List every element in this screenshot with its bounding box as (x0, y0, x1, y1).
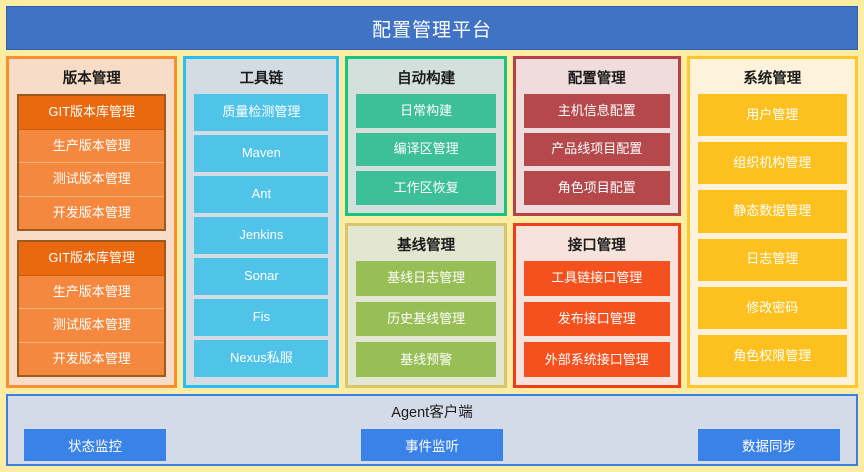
system-item-3[interactable]: 静态数据管理 (698, 190, 847, 232)
panel-title-auto-build: 自动构建 (356, 64, 496, 94)
panel-tool-chain[interactable]: 工具链 质量检测管理 Maven Ant Jenkins Sonar Fis N… (183, 56, 339, 388)
panel-body-config-management: 主机信息配置 产品线项目配置 角色项目配置 (524, 94, 670, 205)
agent-button-status-monitor[interactable]: 状态监控 (24, 429, 166, 461)
panel-title-interface-management: 接口管理 (524, 231, 670, 261)
panel-body-version-management: GIT版本库管理 生产版本管理 测试版本管理 开发版本管理 GIT版本库管理 生… (17, 94, 166, 377)
config-item-1[interactable]: 主机信息配置 (524, 94, 670, 128)
panel-body-tool-chain: 质量检测管理 Maven Ant Jenkins Sonar Fis Nexus… (194, 94, 328, 377)
tool-chain-item-2[interactable]: Maven (194, 135, 328, 172)
interface-item-3[interactable]: 外部系统接口管理 (524, 342, 670, 377)
version-group-2-head[interactable]: GIT版本库管理 (19, 242, 164, 276)
version-group-1-item-3[interactable]: 开发版本管理 (19, 197, 164, 230)
baseline-item-1[interactable]: 基线日志管理 (356, 261, 496, 296)
system-item-2[interactable]: 组织机构管理 (698, 142, 847, 184)
panel-body-interface-management: 工具链接口管理 发布接口管理 外部系统接口管理 (524, 261, 670, 377)
agent-button-data-sync[interactable]: 数据同步 (698, 429, 840, 461)
version-group-1-item-2[interactable]: 测试版本管理 (19, 163, 164, 197)
system-item-5[interactable]: 修改密码 (698, 287, 847, 329)
baseline-item-3[interactable]: 基线预警 (356, 342, 496, 377)
column-tool-chain: 工具链 质量检测管理 Maven Ant Jenkins Sonar Fis N… (183, 56, 339, 388)
baseline-item-2[interactable]: 历史基线管理 (356, 302, 496, 337)
version-group-1-item-1[interactable]: 生产版本管理 (19, 130, 164, 164)
platform-title-bar: 配置管理平台 (6, 6, 858, 50)
panel-body-system-management: 用户管理 组织机构管理 静态数据管理 日志管理 修改密码 角色权限管理 (698, 94, 847, 377)
tool-chain-item-1[interactable]: 质量检测管理 (194, 94, 328, 131)
tool-chain-item-5[interactable]: Sonar (194, 258, 328, 295)
version-group-1[interactable]: GIT版本库管理 生产版本管理 测试版本管理 开发版本管理 (17, 94, 166, 231)
tool-chain-item-4[interactable]: Jenkins (194, 217, 328, 254)
config-item-3[interactable]: 角色项目配置 (524, 171, 670, 205)
panel-title-config-management: 配置管理 (524, 64, 670, 94)
column-system-management: 系统管理 用户管理 组织机构管理 静态数据管理 日志管理 修改密码 角色权限管理 (687, 56, 858, 388)
system-item-1[interactable]: 用户管理 (698, 94, 847, 136)
version-group-1-head[interactable]: GIT版本库管理 (19, 96, 164, 130)
tool-chain-item-7[interactable]: Nexus私服 (194, 340, 328, 377)
version-group-2-item-1[interactable]: 生产版本管理 (19, 276, 164, 310)
agent-client-title: Agent客户端 (8, 401, 856, 422)
interface-item-2[interactable]: 发布接口管理 (524, 302, 670, 337)
auto-build-item-2[interactable]: 编译区管理 (356, 133, 496, 167)
panel-title-version-management: 版本管理 (17, 64, 166, 94)
system-item-6[interactable]: 角色权限管理 (698, 335, 847, 377)
panel-system-management[interactable]: 系统管理 用户管理 组织机构管理 静态数据管理 日志管理 修改密码 角色权限管理 (687, 56, 858, 388)
module-columns: 版本管理 GIT版本库管理 生产版本管理 测试版本管理 开发版本管理 GIT版本… (6, 56, 858, 388)
tool-chain-item-6[interactable]: Fis (194, 299, 328, 336)
interface-item-1[interactable]: 工具链接口管理 (524, 261, 670, 296)
column-version-management: 版本管理 GIT版本库管理 生产版本管理 测试版本管理 开发版本管理 GIT版本… (6, 56, 177, 388)
architecture-diagram: 配置管理平台 版本管理 GIT版本库管理 生产版本管理 测试版本管理 开发版本管… (0, 0, 864, 472)
auto-build-item-3[interactable]: 工作区恢复 (356, 171, 496, 205)
panel-title-baseline-management: 基线管理 (356, 231, 496, 261)
panel-body-auto-build: 日常构建 编译区管理 工作区恢复 (356, 94, 496, 205)
auto-build-item-1[interactable]: 日常构建 (356, 94, 496, 128)
panel-auto-build[interactable]: 自动构建 日常构建 编译区管理 工作区恢复 (345, 56, 507, 216)
tool-chain-item-3[interactable]: Ant (194, 176, 328, 213)
agent-client-bar: Agent客户端 状态监控 事件监听 数据同步 (6, 394, 858, 466)
page-title: 配置管理平台 (372, 15, 492, 42)
system-item-4[interactable]: 日志管理 (698, 239, 847, 281)
column-config-interface: 配置管理 主机信息配置 产品线项目配置 角色项目配置 接口管理 工具链接口管理 … (513, 56, 681, 388)
panel-body-baseline-management: 基线日志管理 历史基线管理 基线预警 (356, 261, 496, 377)
column-build-baseline: 自动构建 日常构建 编译区管理 工作区恢复 基线管理 基线日志管理 历史基线管理… (345, 56, 507, 388)
panel-config-management[interactable]: 配置管理 主机信息配置 产品线项目配置 角色项目配置 (513, 56, 681, 216)
version-group-2-item-3[interactable]: 开发版本管理 (19, 343, 164, 376)
panel-title-tool-chain: 工具链 (194, 64, 328, 94)
agent-button-event-listener[interactable]: 事件监听 (361, 429, 503, 461)
panel-version-management[interactable]: 版本管理 GIT版本库管理 生产版本管理 测试版本管理 开发版本管理 GIT版本… (6, 56, 177, 388)
panel-title-system-management: 系统管理 (698, 64, 847, 94)
panel-baseline-management[interactable]: 基线管理 基线日志管理 历史基线管理 基线预警 (345, 223, 507, 388)
version-group-2[interactable]: GIT版本库管理 生产版本管理 测试版本管理 开发版本管理 (17, 240, 166, 377)
config-item-2[interactable]: 产品线项目配置 (524, 133, 670, 167)
agent-client-buttons: 状态监控 事件监听 数据同步 (8, 422, 856, 461)
panel-interface-management[interactable]: 接口管理 工具链接口管理 发布接口管理 外部系统接口管理 (513, 223, 681, 388)
version-group-2-item-2[interactable]: 测试版本管理 (19, 309, 164, 343)
